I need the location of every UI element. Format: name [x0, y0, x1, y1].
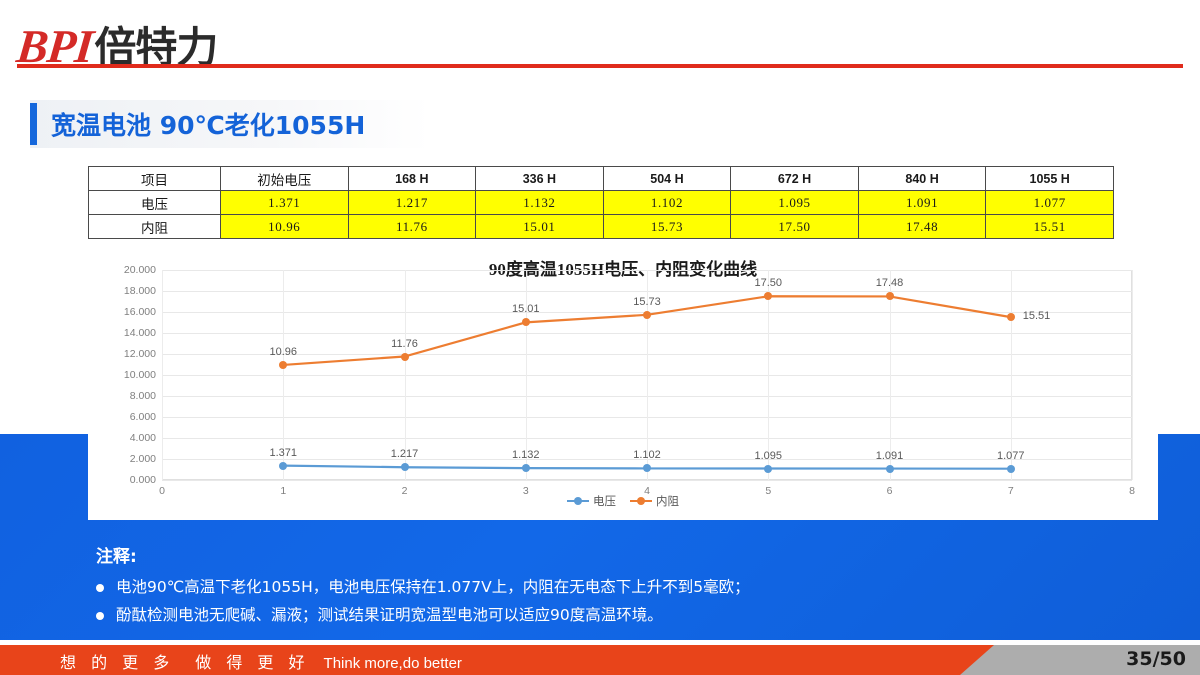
legend-item-voltage[interactable]: 电压 — [567, 493, 616, 509]
legend-label: 内阻 — [656, 493, 679, 509]
y-tick-label: 18.000 — [92, 286, 156, 297]
data-point[interactable] — [886, 465, 894, 473]
table-row: 电压 1.371 1.217 1.132 1.102 1.095 1.091 1… — [89, 191, 1114, 215]
data-point-label: 15.51 — [1023, 310, 1051, 322]
note-text: 酚酞检测电池无爬碱、漏液；测试结果证明宽温型电池可以适应90度高温环境。 — [116, 605, 663, 626]
y-tick-label: 2.000 — [92, 454, 156, 465]
table-cell: 1.095 — [731, 191, 859, 215]
section-title-band: 宽温电池 90℃老化1055H — [30, 100, 430, 148]
table-header-cell: 504 H — [603, 167, 731, 191]
data-point-label: 1.095 — [754, 450, 782, 462]
y-tick-label: 20.000 — [92, 265, 156, 276]
table-cell: 15.01 — [476, 215, 604, 239]
slide-footer: 想 的 更 多 做 得 更 好 Think more,do better 35/… — [0, 645, 1200, 675]
data-point[interactable] — [401, 353, 409, 361]
data-point[interactable] — [401, 463, 409, 471]
table-cell: 1.132 — [476, 191, 604, 215]
chart-container: 90度高温1055H电压、内阻变化曲线 0.0002.0004.0006.000… — [88, 245, 1158, 520]
legend-marker-resistance-icon — [630, 500, 652, 503]
table-cell: 15.51 — [986, 215, 1114, 239]
y-tick-label: 12.000 — [92, 349, 156, 360]
table-cell: 11.76 — [348, 215, 476, 239]
y-tick-label: 0.000 — [92, 475, 156, 486]
chart-plot-area: 1.3711.2171.1321.1021.0951.0911.07710.96… — [162, 270, 1132, 480]
data-point[interactable] — [643, 311, 651, 319]
data-point-label: 1.077 — [997, 450, 1025, 462]
table-cell: 1.091 — [858, 191, 986, 215]
table-cell: 1.371 — [221, 191, 349, 215]
data-point[interactable] — [279, 462, 287, 470]
note-item: 电池90℃高温下老化1055H，电池电压保持在1.077V上，内阻在无电态下上升… — [96, 577, 1136, 598]
note-item: 酚酞检测电池无爬碱、漏液；测试结果证明宽温型电池可以适应90度高温环境。 — [96, 605, 1136, 626]
slogan-english: Think more,do better — [324, 655, 462, 672]
legend-item-resistance[interactable]: 内阻 — [630, 493, 679, 509]
grid-line — [162, 480, 1132, 481]
data-point[interactable] — [1007, 465, 1015, 473]
table-header-cell: 168 H — [348, 167, 476, 191]
header-rule — [17, 64, 1183, 68]
grid-line — [1132, 270, 1133, 480]
table-header-cell: 336 H — [476, 167, 604, 191]
y-tick-label: 4.000 — [92, 433, 156, 444]
slide-header: BPI 倍特力 — [0, 0, 1200, 80]
measurement-table: 项目 初始电压 168 H 336 H 504 H 672 H 840 H 10… — [88, 166, 1114, 239]
data-point-label: 1.217 — [391, 448, 419, 460]
page-number: 35/50 — [1126, 648, 1186, 670]
table-cell: 15.73 — [603, 215, 731, 239]
table-header-cell: 840 H — [858, 167, 986, 191]
table-cell: 1.217 — [348, 191, 476, 215]
data-point[interactable] — [764, 465, 772, 473]
table-cell: 17.50 — [731, 215, 859, 239]
table-header-cell: 初始电压 — [221, 167, 349, 191]
table-cell: 1.102 — [603, 191, 731, 215]
data-point[interactable] — [1007, 313, 1015, 321]
data-point-label: 17.50 — [754, 277, 782, 289]
legend-label: 电压 — [593, 493, 616, 509]
y-tick-label: 16.000 — [92, 307, 156, 318]
data-point-label: 15.73 — [633, 296, 661, 308]
data-point-label: 1.102 — [633, 449, 661, 461]
bullet-icon — [96, 612, 104, 620]
table-row: 内阻 10.96 11.76 15.01 15.73 17.50 17.48 1… — [89, 215, 1114, 239]
footer-slogan: 想 的 更 多 做 得 更 好 Think more,do better — [60, 649, 462, 673]
table-header-cell: 1055 H — [986, 167, 1114, 191]
y-tick-label: 6.000 — [92, 412, 156, 423]
data-point-label: 1.132 — [512, 449, 540, 461]
table-cell: 10.96 — [221, 215, 349, 239]
table-header-cell: 项目 — [89, 167, 221, 191]
table-header-cell: 672 H — [731, 167, 859, 191]
data-point-label: 1.371 — [269, 447, 297, 459]
legend-marker-voltage-icon — [567, 500, 589, 503]
table-cell: 17.48 — [858, 215, 986, 239]
data-point-label: 11.76 — [391, 338, 418, 350]
note-text: 电池90℃高温下老化1055H，电池电压保持在1.077V上，内阻在无电态下上升… — [116, 577, 750, 598]
chart-legend: 电压 内阻 — [88, 493, 1158, 509]
row-label: 电压 — [89, 191, 221, 215]
page-title: 宽温电池 90℃老化1055H — [51, 106, 365, 142]
notes-block: 注释: 电池90℃高温下老化1055H，电池电压保持在1.077V上，内阻在无电… — [96, 542, 1136, 626]
slide-root: BPI 倍特力 宽温电池 90℃老化1055H 项目 初始电压 168 H 33… — [0, 0, 1200, 675]
data-point[interactable] — [886, 292, 894, 300]
data-point[interactable] — [522, 464, 530, 472]
y-tick-label: 14.000 — [92, 328, 156, 339]
table-cell: 1.077 — [986, 191, 1114, 215]
data-point-label: 1.091 — [876, 450, 904, 462]
bullet-icon — [96, 584, 104, 592]
data-point-label: 17.48 — [876, 277, 904, 289]
data-point-label: 10.96 — [269, 346, 297, 358]
y-tick-label: 10.000 — [92, 370, 156, 381]
y-tick-label: 8.000 — [92, 391, 156, 402]
y-axis-ticks: 0.0002.0004.0006.0008.00010.00012.00014.… — [88, 270, 162, 480]
row-label: 内阻 — [89, 215, 221, 239]
slogan-chinese: 想 的 更 多 做 得 更 好 — [60, 649, 310, 673]
table-header-row: 项目 初始电压 168 H 336 H 504 H 672 H 840 H 10… — [89, 167, 1114, 191]
data-point-label: 15.01 — [512, 303, 540, 315]
title-accent-bar — [30, 103, 37, 145]
notes-heading: 注释: — [96, 542, 1136, 567]
